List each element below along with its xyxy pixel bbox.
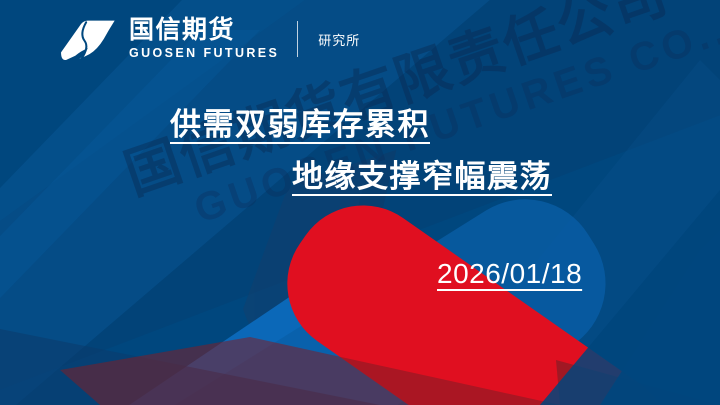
brand-logo-text: 国信期货 GUOSEN FUTURES (129, 17, 279, 61)
red-shade-left (60, 337, 560, 405)
shape-blue-slab-left (63, 209, 503, 405)
title-line-2: 地缘支撑窄幅震荡 (292, 156, 720, 199)
page-title: 供需双弱库存累积 地缘支撑窄幅震荡 (0, 104, 720, 199)
brand-name-en: GUOSEN FUTURES (129, 46, 279, 61)
report-cover-slide: 国信期货有限责任公司 GUOSEN FUTURES CO.,LTD. 国信期货 … (0, 0, 720, 405)
brand-name-cn: 国信期货 (129, 17, 279, 43)
report-date: 2026/01/18 (437, 258, 582, 290)
title-line-1: 供需双弱库存累积 (170, 104, 720, 147)
logo-divider (297, 21, 298, 57)
guosen-logo-mark-icon (56, 15, 118, 63)
brand-department: 研究所 (318, 30, 360, 49)
brand-logo[interactable]: 国信期货 GUOSEN FUTURES 研究所 (56, 15, 360, 63)
shape-red-slab (260, 178, 698, 405)
overlay-lower-left (0, 325, 380, 405)
red-shade-right (556, 360, 720, 405)
navy-wedge-right (600, 230, 720, 405)
